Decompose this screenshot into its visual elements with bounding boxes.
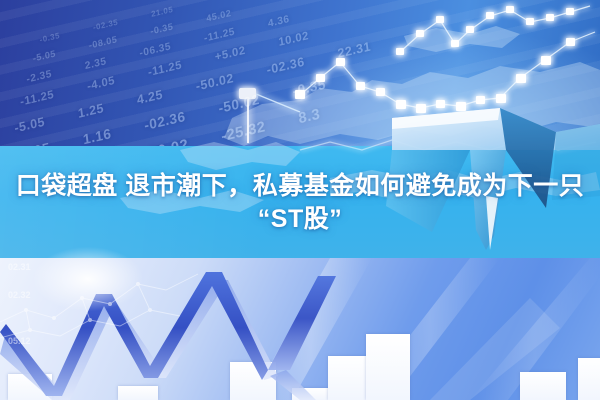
title-line-1: 口袋超盘 退市潮下，私募基金如何避免成为下一只	[0, 170, 600, 202]
ticker-value: 05.12	[8, 336, 31, 346]
large-3d-up-arrow	[0, 0, 600, 290]
banner-image: -0.35-02.3521.05-5.05-08.05-0.3545.02-2.…	[0, 0, 600, 400]
title-line-2: “ST股”	[0, 202, 600, 236]
page-title: 口袋超盘 退市潮下，私募基金如何避免成为下一只 “ST股”	[0, 170, 600, 236]
